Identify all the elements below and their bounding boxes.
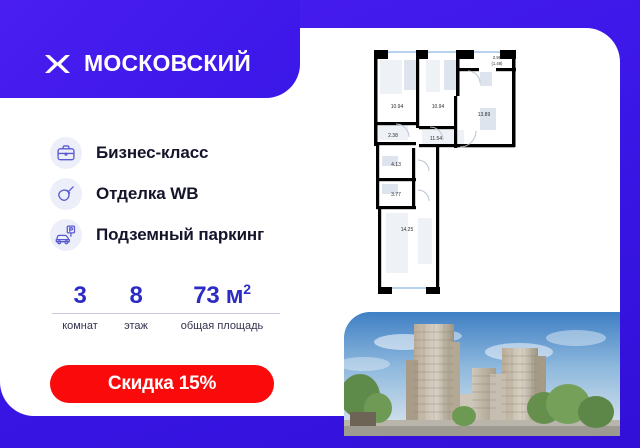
- room-area: 14.25: [401, 227, 414, 233]
- room-area: 2.96: [493, 55, 502, 60]
- stat-floor: 8: [108, 283, 164, 308]
- parking-car-icon: [50, 219, 82, 251]
- room-area: 3.77: [391, 192, 401, 198]
- stat-value: 3: [52, 283, 108, 308]
- building-render[interactable]: [344, 312, 620, 436]
- logo[interactable]: МОСКОВСКИЙ: [44, 50, 251, 77]
- stat-label: общая площадь: [164, 320, 280, 334]
- room-area-sub: (1.48): [492, 61, 504, 66]
- briefcase-icon: [50, 137, 82, 169]
- room-area: 2.38: [388, 133, 398, 139]
- brand-header: МОСКОВСКИЙ: [0, 0, 300, 98]
- feature-item: Подземный паркинг: [50, 219, 264, 251]
- discount-button[interactable]: Скидка 15%: [50, 365, 274, 403]
- feature-item: Отделка WB: [50, 178, 264, 210]
- room-area: 13.89: [478, 112, 491, 118]
- floor-plan[interactable]: .wall { fill:#000000; } .thin { fill:non…: [360, 38, 535, 306]
- feature-label: Подземный паркинг: [96, 225, 264, 245]
- feature-label: Отделка WB: [96, 184, 198, 204]
- x-mark-icon: [44, 53, 74, 75]
- stat-area-number: 73: [193, 282, 219, 309]
- stat-value: 73 м2: [164, 282, 280, 308]
- trowel-icon: [50, 178, 82, 210]
- promo-card: МОСКОВСКИЙ Бизнес-класс: [0, 0, 640, 448]
- stat-area-unit: м: [226, 282, 243, 309]
- stats-block: 3 8 73 м2 комнат этаж общая площадь: [52, 282, 280, 334]
- stat-area-sup: 2: [243, 281, 251, 297]
- room-area: 10.94: [432, 104, 445, 110]
- feature-item: Бизнес-класс: [50, 137, 264, 169]
- feature-list: Бизнес-класс Отделка WB: [50, 137, 264, 251]
- stat-rooms: 3: [52, 283, 108, 308]
- stat-label: комнат: [52, 320, 108, 334]
- room-area: 4.13: [391, 162, 401, 168]
- stat-value: 8: [108, 283, 164, 308]
- stat-label: этаж: [108, 320, 164, 334]
- brand-name: МОСКОВСКИЙ: [84, 50, 251, 77]
- feature-label: Бизнес-класс: [96, 143, 208, 163]
- room-area: 11.54: [430, 136, 442, 142]
- stat-area: 73 м2: [164, 282, 280, 308]
- stats-values: 3 8 73 м2: [52, 282, 280, 313]
- room-area: 10.94: [391, 104, 404, 110]
- stats-labels: комнат этаж общая площадь: [52, 314, 280, 334]
